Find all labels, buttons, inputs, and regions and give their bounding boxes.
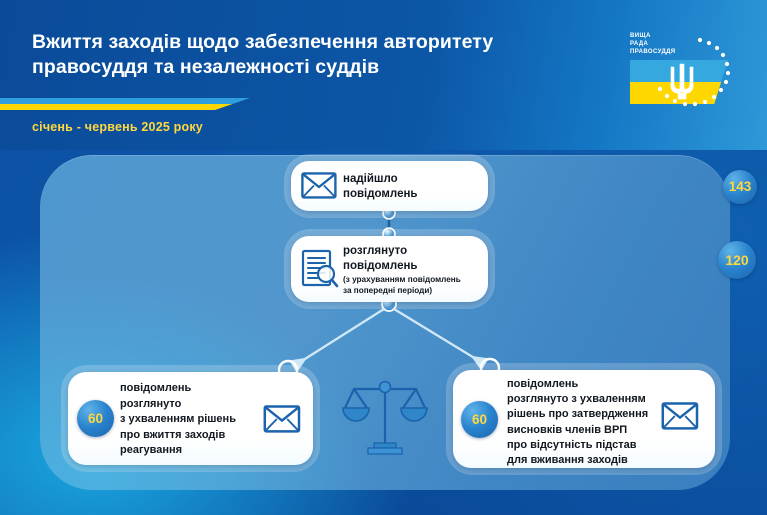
card-measures-text: повідомлень розглянуто з ухваленням ріше… (120, 381, 236, 459)
header-banner: Вжиття заходів щодо забезпечення авторит… (0, 0, 767, 150)
document-magnifier-icon (301, 249, 339, 294)
card-no-grounds-text: повідомлень розглянуто з ухваленням ріше… (507, 377, 648, 468)
badge-no-grounds-count: 60 (461, 401, 498, 438)
card-reviewed-subtext: (з урахуванням повідомлень за попередні … (343, 274, 461, 296)
scales-of-justice-icon (340, 375, 430, 460)
trident-icon (668, 62, 696, 102)
badge-measures-count: 60 (77, 400, 114, 437)
badge-received-count: 143 (723, 170, 757, 204)
card-reviewed-text: розглянуто повідомлень (343, 244, 417, 274)
logo-label: ВИЩАРАДАПРАВОСУДДЯ (630, 32, 676, 56)
flag-stripe-divider (0, 98, 250, 111)
badge-reviewed-count: 120 (718, 241, 756, 279)
council-logo: ВИЩАРАДАПРАВОСУДДЯ (616, 18, 751, 123)
envelope-icon (661, 402, 699, 435)
page-title: Вжиття заходів щодо забезпечення авторит… (32, 30, 612, 80)
card-no-grounds[interactable]: 60 повідомлень розглянуто з ухваленням р… (453, 370, 715, 468)
period-subtitle: січень - червень 2025 року (32, 120, 203, 134)
envelope-icon (301, 172, 337, 204)
envelope-icon (263, 405, 301, 438)
card-reviewed[interactable]: розглянуто повідомлень (з урахуванням по… (291, 236, 488, 302)
card-received[interactable]: надійшло повідомлень 143 (291, 161, 488, 211)
stripe-yellow (0, 104, 250, 110)
card-received-text: надійшло повідомлень (343, 172, 417, 202)
infographic-page: Вжиття заходів щодо забезпечення авторит… (0, 0, 767, 515)
card-measures-taken[interactable]: 60 повідомлень розглянуто з ухваленням р… (68, 372, 313, 465)
stripe-blue (0, 98, 250, 104)
